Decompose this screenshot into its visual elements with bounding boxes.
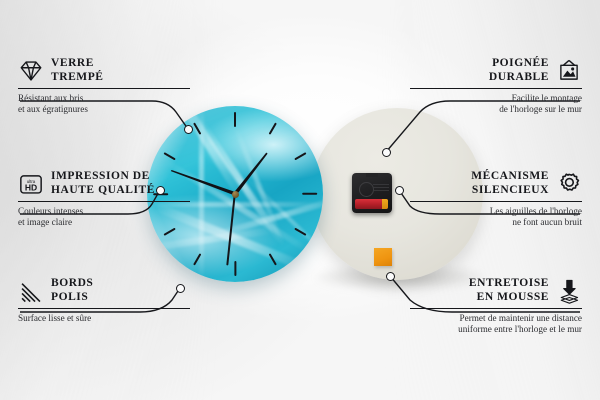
connector-dot-tempered-glass (184, 125, 193, 134)
feature-foam-spacer: ENTRETOISE EN MOUSSE Permet de maintenir… (410, 277, 582, 335)
feature-description: Facilite le montage de l'horloge sur le … (410, 93, 582, 115)
battery-positive-cap (382, 199, 388, 209)
mechanism-label-text (373, 184, 389, 193)
feature-header: BORDS POLIS (18, 277, 190, 304)
clock-tick (269, 253, 277, 265)
feature-title: BORDS POLIS (51, 277, 93, 304)
down-arrow-stack-icon (556, 278, 582, 304)
hanging-frame-icon (556, 58, 582, 84)
clock-tick (163, 228, 175, 236)
feather-streak (246, 177, 323, 263)
feature-title: POIGNÉE DURABLE (489, 57, 549, 84)
feature-title: ENTRETOISE EN MOUSSE (469, 277, 549, 304)
feature-divider (410, 308, 582, 309)
mechanism-dial (359, 182, 374, 197)
feature-header: VERRE TREMPÉ (18, 57, 190, 84)
feature-divider (410, 201, 582, 202)
clock-tick (294, 228, 306, 236)
feature-divider (18, 201, 190, 202)
feature-header: POIGNÉE DURABLE (410, 57, 582, 84)
connector-dot-mechanism (395, 186, 404, 195)
gear-icon (556, 171, 582, 197)
connector-dot-foam-spacer (386, 272, 395, 281)
clock-center-cap (232, 191, 239, 198)
diamond-icon (18, 58, 44, 84)
svg-text:HD: HD (25, 182, 37, 192)
foam-spacer-square (374, 248, 392, 266)
mechanism-hanger-tab (366, 173, 378, 177)
connector-dot-handle (382, 148, 391, 157)
feature-description: Les aiguilles de l'horloge ne font aucun… (410, 206, 582, 228)
feature-description: Résistant aux bris et aux égratignures (18, 93, 190, 115)
feature-header: MÉCANISME SILENCIEUX (410, 170, 582, 197)
feature-divider (18, 308, 190, 309)
feature-mechanism: MÉCANISME SILENCIEUX Les aiguilles de l'… (410, 170, 582, 228)
feature-divider (410, 88, 582, 89)
feature-tempered-glass: VERRE TREMPÉ Résistant aux bris et aux é… (18, 57, 190, 115)
feature-title: VERRE TREMPÉ (51, 57, 104, 84)
feather-streak (147, 227, 276, 253)
clock-tick (234, 261, 236, 276)
feature-title: IMPRESSION DE HAUTE QUALITÉ (51, 170, 155, 197)
feature-print-quality: ultra HD IMPRESSION DE HAUTE QUALITÉ Cou… (18, 170, 190, 228)
infographic-canvas: VERRE TREMPÉ Résistant aux bris et aux é… (0, 0, 600, 400)
feature-header: ultra HD IMPRESSION DE HAUTE QUALITÉ (18, 170, 190, 197)
ultra-hd-icon: ultra HD (18, 171, 44, 197)
battery (355, 199, 388, 209)
clock-tick (294, 152, 306, 160)
feature-handle: POIGNÉE DURABLE Facilite le montage de l… (410, 57, 582, 115)
feature-header: ENTRETOISE EN MOUSSE (410, 277, 582, 304)
feature-description: Permet de maintenir une distance uniform… (410, 313, 582, 335)
feature-divider (18, 88, 190, 89)
clock-mechanism-box (352, 173, 392, 213)
feature-description: Couleurs intenses et image claire (18, 206, 190, 228)
diagonal-lines-icon (18, 278, 44, 304)
clock-tick (302, 193, 317, 195)
feature-title: MÉCANISME SILENCIEUX (471, 170, 549, 197)
feature-description: Surface lisse et sûre (18, 313, 190, 324)
feature-polished-edges: BORDS POLIS Surface lisse et sûre (18, 277, 190, 324)
